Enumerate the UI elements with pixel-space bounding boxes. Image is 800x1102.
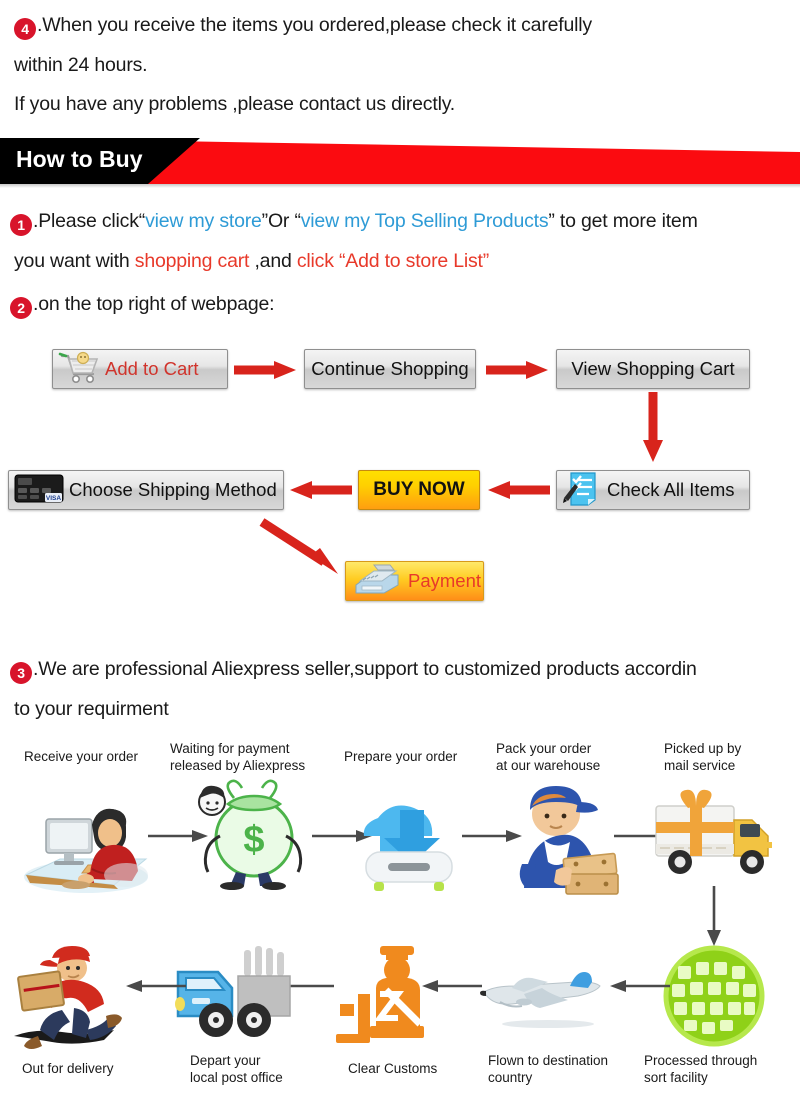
process-label-receive-your-order: Receive your order xyxy=(24,748,154,765)
step-3-text: .We are professional Aliexpress seller,s… xyxy=(33,658,697,680)
process-label-processed-through-sort: Processed through sort facility xyxy=(644,1052,794,1086)
process-label-clear-customs: Clear Customs xyxy=(348,1060,468,1077)
svg-text:VISA: VISA xyxy=(46,495,61,502)
shopping-cart-icon xyxy=(57,350,101,389)
step-2-text: .on the top right of webpage: xyxy=(33,293,274,315)
green-globe-icon xyxy=(658,944,770,1053)
add-to-cart-button[interactable]: Add to Cart xyxy=(52,349,228,389)
link-view-my-store[interactable]: view my store xyxy=(145,210,262,232)
how-to-buy-banner: How to Buy xyxy=(0,138,800,184)
payment-label: Payment xyxy=(408,570,481,592)
intro-line-1: 4.When you receive the items you ordered… xyxy=(14,6,592,44)
person-at-computer-icon xyxy=(18,785,158,900)
intro-line-3: If you have any problems ,please contact… xyxy=(14,85,455,123)
arrow-checkitems-to-buynow xyxy=(486,479,550,506)
choose-shipping-method-button[interactable]: VISA Choose Shipping Method xyxy=(8,470,284,510)
check-all-items-label: Check All Items xyxy=(607,479,735,501)
add-to-cart-label: Add to Cart xyxy=(105,358,199,380)
banner-title: How to Buy xyxy=(16,146,143,173)
step-1-text-b: ”Or “ xyxy=(262,210,301,232)
view-shopping-cart-label: View Shopping Cart xyxy=(571,358,734,380)
checklist-icon xyxy=(561,470,603,511)
process-label-out-for-delivery: Out for delivery xyxy=(22,1060,152,1077)
process-label-pack-your-order: Pack your order at our warehouse xyxy=(496,740,646,774)
step-1-line-2: you want with shopping cart ,and click “… xyxy=(14,242,489,280)
process-label-prepare-your-order: Prepare your order xyxy=(344,748,484,765)
credit-card-icon: VISA xyxy=(13,471,65,510)
highlight-add-to-store-list: click “Add to store List” xyxy=(297,250,489,272)
step-3-line-2: to your requirment xyxy=(14,690,169,728)
worker-with-boxes-icon xyxy=(500,778,626,901)
step-1-line-1: 1.Please click“view my store”Or “view my… xyxy=(10,202,698,240)
process-arrow-down-to-sort-facility xyxy=(705,886,723,953)
arrow-viewcart-to-checkitems xyxy=(640,392,666,469)
buy-now-label: BUY NOW xyxy=(373,479,464,501)
step-1-line-2-b: ,and xyxy=(249,250,297,272)
step-3-line-1: 3.We are professional Aliexpress seller,… xyxy=(10,650,697,688)
cash-register-icon xyxy=(350,561,404,602)
arrow-cart-to-continue xyxy=(234,359,298,386)
check-all-items-button[interactable]: Check All Items xyxy=(556,470,750,510)
process-label-waiting-for-payment: Waiting for payment released by Aliexpre… xyxy=(170,740,330,774)
step-badge-1: 1 xyxy=(10,214,32,236)
choose-shipping-method-label: Choose Shipping Method xyxy=(69,479,277,501)
step-badge-3: 3 xyxy=(10,662,32,684)
process-label-picked-up-by-mail: Picked up by mail service xyxy=(664,740,784,774)
step-2-line: 2.on the top right of webpage: xyxy=(10,285,274,323)
step-1-line-2-a: you want with xyxy=(14,250,135,272)
svg-text:$: $ xyxy=(243,819,264,861)
step-badge-4: 4 xyxy=(14,18,36,40)
process-label-flown-to-destination: Flown to destination country xyxy=(488,1052,638,1086)
continue-shopping-button[interactable]: Continue Shopping xyxy=(304,349,476,389)
customs-officer-icon xyxy=(330,938,450,1053)
view-shopping-cart-button[interactable]: View Shopping Cart xyxy=(556,349,750,389)
buy-now-button[interactable]: BUY NOW xyxy=(358,470,480,510)
download-arrow-icon xyxy=(348,790,468,899)
step-badge-2: 2 xyxy=(10,297,32,319)
promo-page: 4.When you receive the items you ordered… xyxy=(0,0,800,1102)
banner-shadow xyxy=(0,184,800,188)
intro-line-2: within 24 hours. xyxy=(14,46,147,84)
delivery-truck-icon xyxy=(648,786,784,891)
intro-line-1-text: .When you receive the items you ordered,… xyxy=(37,14,592,36)
step-1-text-c: ” to get more item xyxy=(548,210,697,232)
process-arrow-5 xyxy=(608,978,670,999)
step-1-text-a: .Please click“ xyxy=(33,210,145,232)
blue-truck-icon xyxy=(172,932,300,1047)
continue-shopping-label: Continue Shopping xyxy=(311,358,468,380)
arrow-buynow-to-shipping xyxy=(288,479,352,506)
highlight-shopping-cart: shopping cart xyxy=(135,250,249,272)
link-view-top-selling-products[interactable]: view my Top Selling Products xyxy=(301,210,549,232)
payment-button[interactable]: Payment xyxy=(345,561,484,601)
money-bag-icon: $ xyxy=(190,778,310,895)
running-courier-icon xyxy=(8,930,138,1057)
airplane-icon xyxy=(478,958,612,1041)
arrow-continue-to-viewcart xyxy=(486,359,550,386)
process-label-depart-local-post-office: Depart your local post office xyxy=(190,1052,330,1086)
